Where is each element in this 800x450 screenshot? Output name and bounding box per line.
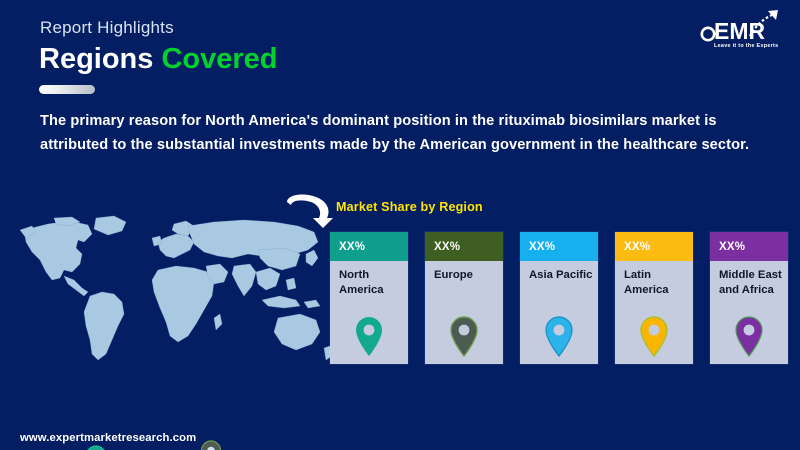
region-card-latin-america[interactable]: XX% Latin America (615, 232, 693, 364)
map-pin-north-america (87, 446, 106, 450)
region-card-asia-pacific[interactable]: XX% Asia Pacific (520, 232, 598, 364)
map-pin-europe (202, 441, 221, 450)
eyebrow-text: Report Highlights (40, 19, 174, 36)
card-percent: XX% (719, 241, 745, 253)
card-percent: XX% (529, 241, 555, 253)
region-card-europe[interactable]: XX% Europe (425, 232, 503, 364)
card-percent: XX% (624, 241, 650, 253)
logo-circle-icon (702, 28, 714, 40)
card-pin-icon (425, 316, 503, 358)
card-pin-icon (520, 316, 598, 358)
card-percent: XX% (339, 241, 365, 253)
card-region-name: North America (330, 261, 408, 299)
slide-root: Report Highlights Regions Covered EMR Le… (0, 0, 800, 450)
region-card-north-america[interactable]: XX% North America (330, 232, 408, 364)
page-title: Regions Covered (39, 44, 278, 76)
card-header: XX% (520, 232, 598, 261)
card-pin-icon (330, 316, 408, 358)
card-region-name: Europe (425, 261, 503, 283)
card-region-name: Asia Pacific (520, 261, 598, 283)
page-title-part2: Covered (161, 43, 277, 75)
card-header: XX% (710, 232, 788, 261)
page-title-part1: Regions (39, 43, 153, 75)
card-percent: XX% (434, 241, 460, 253)
card-header: XX% (615, 232, 693, 261)
world-map (18, 214, 334, 374)
card-region-name: Latin America (615, 261, 693, 299)
card-region-name: Middle East and Africa (710, 261, 788, 299)
emr-logo: EMR Leave it to the Experts (692, 6, 786, 50)
map-landmasses (20, 216, 332, 360)
svg-text:EMR: EMR (714, 18, 766, 44)
card-header: XX% (425, 232, 503, 261)
region-card-middle-east-and-africa[interactable]: XX% Middle East and Africa (710, 232, 788, 364)
region-cards: XX% North America XX% Europe (330, 232, 790, 364)
callout-label: Market Share by Region (336, 200, 483, 214)
card-pin-icon (710, 316, 788, 358)
card-pin-icon (615, 316, 693, 358)
body-paragraph: The primary reason for North America's d… (40, 110, 770, 157)
logo-tagline: Leave it to the Experts (714, 43, 778, 49)
card-header: XX% (330, 232, 408, 261)
curved-arrow-icon (283, 194, 339, 232)
title-underline-bar (39, 85, 95, 94)
footer-website[interactable]: www.expertmarketresearch.com (20, 432, 196, 444)
